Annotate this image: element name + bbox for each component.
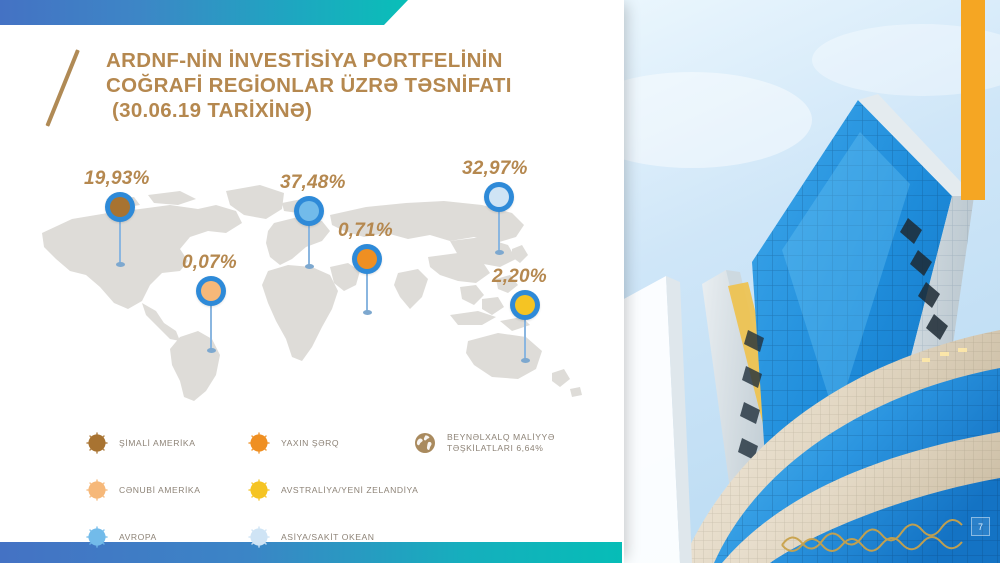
burst-icon [248,526,270,548]
pin-head [510,290,540,320]
legend-item-europe[interactable]: AVROPA [86,526,201,548]
legend-label: AVROPA [119,532,157,543]
legend-label: AVSTRALİYA/YENİ ZELANDİYA [281,485,418,496]
marker-label-middle-east: 0,71% [338,220,393,242]
pin-australia[interactable] [510,290,540,362]
pin-stem [308,222,310,266]
legend-column-2: YAXIN ŞƏRQ AVSTRALİYA/YENİ ZELANDİYA [248,432,418,563]
building-photo: 7 [622,0,1000,563]
pin-stem [210,302,212,350]
pin-color-dot [110,197,130,217]
pin-europe[interactable] [294,196,324,268]
legend-column-3: BEYNƏLXALQ MALİYYƏ TƏŞKİLATLARI 6,64% [414,432,555,479]
pin-north-america[interactable] [105,192,135,267]
building-illustration [622,0,1000,563]
pin-color-dot [489,187,509,207]
title-slash-icon [62,48,102,128]
legend-label-line-1: BEYNƏLXALQ MALİYYƏ [447,432,555,442]
top-gradient-bar [0,0,408,25]
pin-south-america[interactable] [196,276,226,352]
legend-item-asia-pacific[interactable]: ASİYA/SAKİT OKEAN [248,526,418,548]
pin-head [484,182,514,212]
pin-head [352,244,382,274]
pin-base [116,262,125,267]
burst-icon [86,479,108,501]
title-line-2: COĞRAFİ REGİONLAR ÜZRƏ TƏSNİFATI [106,73,512,98]
pin-head [294,196,324,226]
page-title: ARDNF-NİN İNVESTİSİYA PORTFELİNİN COĞRAF… [62,48,512,128]
marker-label-north-america: 19,93% [84,168,150,190]
title-text: ARDNF-NİN İNVESTİSİYA PORTFELİNİN COĞRAF… [106,48,512,123]
marker-label-asia-pacific: 32,97% [462,158,528,180]
burst-icon [248,479,270,501]
pin-stem [366,270,368,312]
pin-color-dot [357,249,377,269]
burst-icon [86,526,108,548]
legend-label: ASİYA/SAKİT OKEAN [281,532,375,543]
marker-label-europe: 37,48% [280,172,346,194]
pin-stem [524,316,526,360]
page-number: 7 [971,517,990,536]
pin-base [305,264,314,269]
pin-stem [119,218,121,264]
slide: 7 ARDNF-NİN İNVESTİSİYA PORTFELİNİN COĞR… [0,0,1000,563]
title-line-3: (30.06.19 TARİXİNƏ) [106,98,512,123]
pin-base [363,310,372,315]
marker-label-australia: 2,20% [492,266,547,288]
legend-label-line-2: TƏŞKİLATLARI 6,64% [447,443,543,453]
marker-label-south-america: 0,07% [182,252,237,274]
pin-stem [498,208,500,252]
burst-icon [248,432,270,454]
legend-label: ŞİMALİ AMERİKA [119,438,195,449]
legend-item-south-america[interactable]: CƏNUBİ AMERİKA [86,479,201,501]
globe-icon [414,432,436,454]
legend-label: YAXIN ŞƏRQ [281,438,339,449]
title-line-1: ARDNF-NİN İNVESTİSİYA PORTFELİNİN [106,48,512,73]
legend-label: CƏNUBİ AMERİKA [119,485,201,496]
legend-item-international-financial-institutions[interactable]: BEYNƏLXALQ MALİYYƏ TƏŞKİLATLARI 6,64% [414,432,555,454]
pin-base [521,358,530,363]
legend-item-australia-nz[interactable]: AVSTRALİYA/YENİ ZELANDİYA [248,479,418,501]
pin-base [495,250,504,255]
legend-item-north-america[interactable]: ŞİMALİ AMERİKA [86,432,201,454]
pin-head [196,276,226,306]
pin-color-dot [201,281,221,301]
pin-head [105,192,135,222]
pin-base [207,348,216,353]
legend-label: BEYNƏLXALQ MALİYYƏ TƏŞKİLATLARI 6,64% [447,432,555,454]
pin-asia-pacific[interactable] [484,182,514,254]
legend-column-1: ŞİMALİ AMERİKA CƏNUBİ AMERİKA [86,432,201,563]
pin-color-dot [299,201,319,221]
legend-item-middle-east[interactable]: YAXIN ŞƏRQ [248,432,418,454]
orange-accent-bar [961,0,985,200]
pin-middle-east[interactable] [352,244,382,314]
burst-icon [86,432,108,454]
pin-color-dot [515,295,535,315]
